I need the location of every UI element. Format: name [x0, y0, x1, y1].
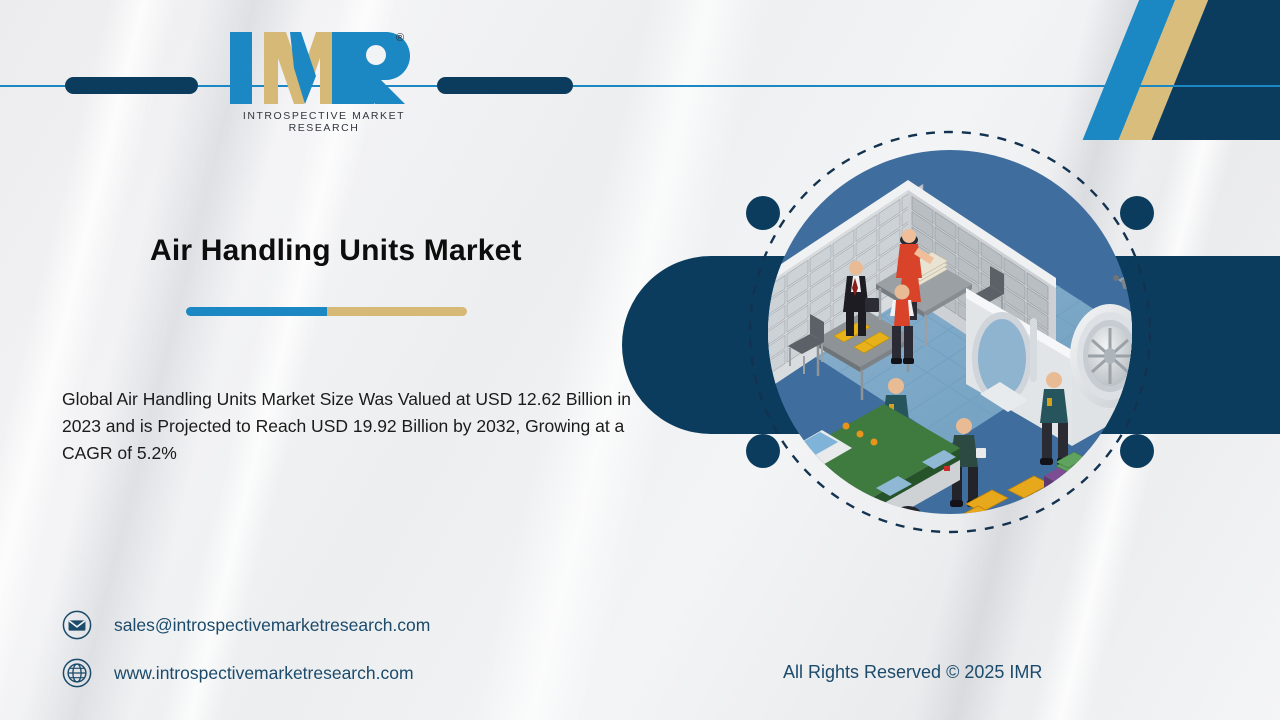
- globe-icon: [62, 658, 92, 688]
- envelope-icon: [62, 610, 92, 640]
- registered-mark-icon: ®: [396, 32, 404, 44]
- contact-email[interactable]: sales@introspectivemarketresearch.com: [62, 610, 430, 640]
- imr-logo-mark: ®: [224, 28, 424, 106]
- header-rule-pill-left: [65, 77, 198, 94]
- coin-stack: [1032, 491, 1052, 511]
- poster-canvas: ® INTROSPECTIVE MARKET RESEARCH Air Hand…: [0, 0, 1280, 720]
- logo-tagline: INTROSPECTIVE MARKET RESEARCH: [224, 110, 424, 134]
- bank-vault-isometric-illustration: ARMORED SERVICE: [726, 108, 1174, 556]
- imr-logo: ® INTROSPECTIVE MARKET RESEARCH: [224, 28, 424, 138]
- contact-website[interactable]: www.introspectivemarketresearch.com: [62, 658, 414, 688]
- accent-bar-blue: [186, 307, 327, 316]
- decor-dot-bottom-left: [746, 434, 780, 468]
- vault-door-wheel: [1070, 304, 1150, 408]
- title-accent-bar: [186, 307, 467, 316]
- imr-logo-svg: [224, 28, 424, 108]
- market-description: Global Air Handling Units Market Size Wa…: [62, 386, 637, 467]
- decor-dot-top-left: [746, 196, 780, 230]
- copyright-text: All Rights Reserved © 2025 IMR: [783, 662, 1042, 683]
- accent-bar-gold: [327, 307, 468, 316]
- header-rule-pill-right: [437, 77, 573, 94]
- decor-dot-top-right: [1120, 196, 1154, 230]
- decor-dot-bottom-right: [1120, 434, 1154, 468]
- page-title: Air Handling Units Market: [150, 234, 522, 268]
- email-text[interactable]: sales@introspectivemarketresearch.com: [114, 615, 430, 636]
- website-text[interactable]: www.introspectivemarketresearch.com: [114, 663, 414, 684]
